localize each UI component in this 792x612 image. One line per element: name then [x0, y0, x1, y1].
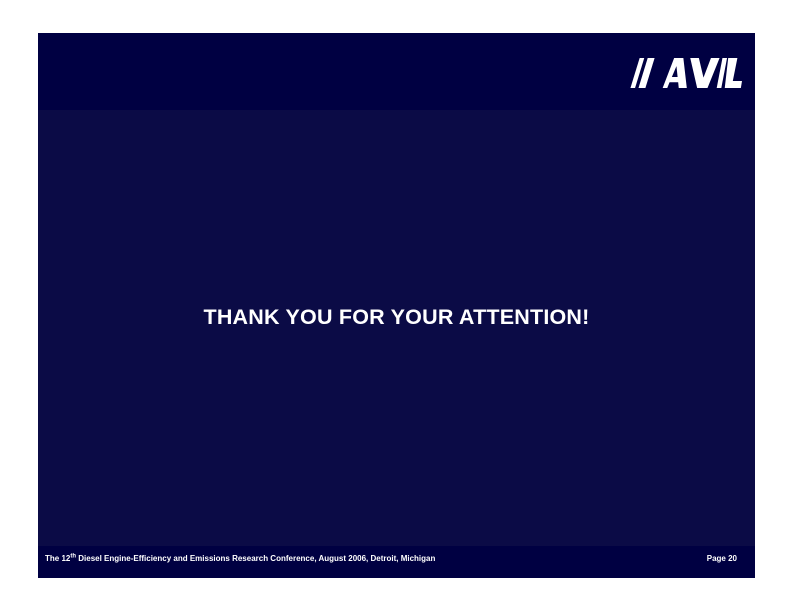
slide-footer-band: The 12th Diesel Engine-Efficiency and Em…: [38, 546, 755, 578]
slide-header-band: [38, 33, 755, 110]
presentation-slide: THANK YOU FOR YOUR ATTENTION! The 12th D…: [38, 33, 755, 578]
page-canvas: THANK YOU FOR YOUR ATTENTION! The 12th D…: [0, 0, 792, 612]
footer-conference-body: Diesel Engine-Efficiency and Emissions R…: [76, 554, 435, 563]
footer-conference-text: The 12th Diesel Engine-Efficiency and Em…: [45, 554, 435, 563]
slide-headline: THANK YOU FOR YOUR ATTENTION!: [38, 305, 755, 330]
footer-page-number: Page 20: [707, 554, 737, 563]
avl-logo: [627, 58, 742, 88]
slide-content-area: THANK YOU FOR YOUR ATTENTION!: [38, 110, 755, 546]
footer-conference-prefix: The 12: [45, 554, 70, 563]
